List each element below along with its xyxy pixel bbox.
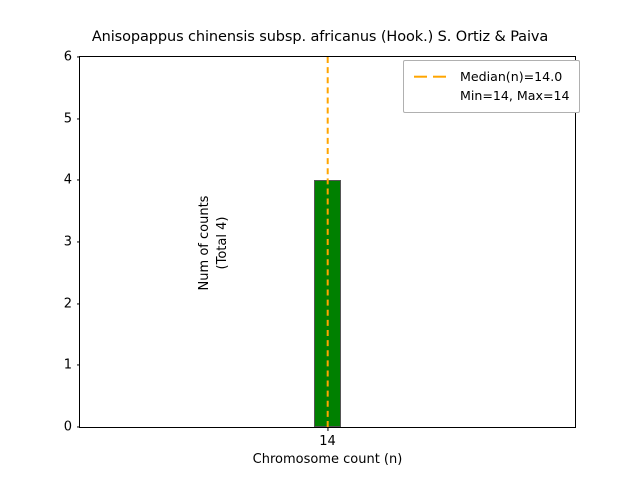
legend-entry-minmax: Min=14, Max=14	[413, 86, 570, 105]
y-tick-label: 6	[64, 50, 80, 65]
y-tick-label: 5	[64, 111, 80, 126]
legend-entry-median: Median(n)=14.0	[413, 67, 570, 86]
legend-label-median: Median(n)=14.0	[460, 69, 562, 84]
chart-legend: Median(n)=14.0 Min=14, Max=14	[403, 60, 580, 113]
x-axis-label: Chromosome count (n)	[79, 452, 576, 467]
median-line	[326, 57, 328, 427]
y-tick-label: 0	[64, 420, 80, 435]
dashed-line-icon	[413, 70, 451, 83]
y-tick-label: 3	[64, 235, 80, 250]
legend-label-minmax: Min=14, Max=14	[460, 88, 570, 103]
x-tick-label: 14	[319, 427, 336, 449]
y-tick-label: 2	[64, 296, 80, 311]
chart-title: Anisopappus chinensis subsp. africanus (…	[0, 29, 640, 45]
y-tick-label: 1	[64, 358, 80, 373]
y-tick-label: 4	[64, 173, 80, 188]
chart-figure: Anisopappus chinensis subsp. africanus (…	[0, 0, 640, 480]
